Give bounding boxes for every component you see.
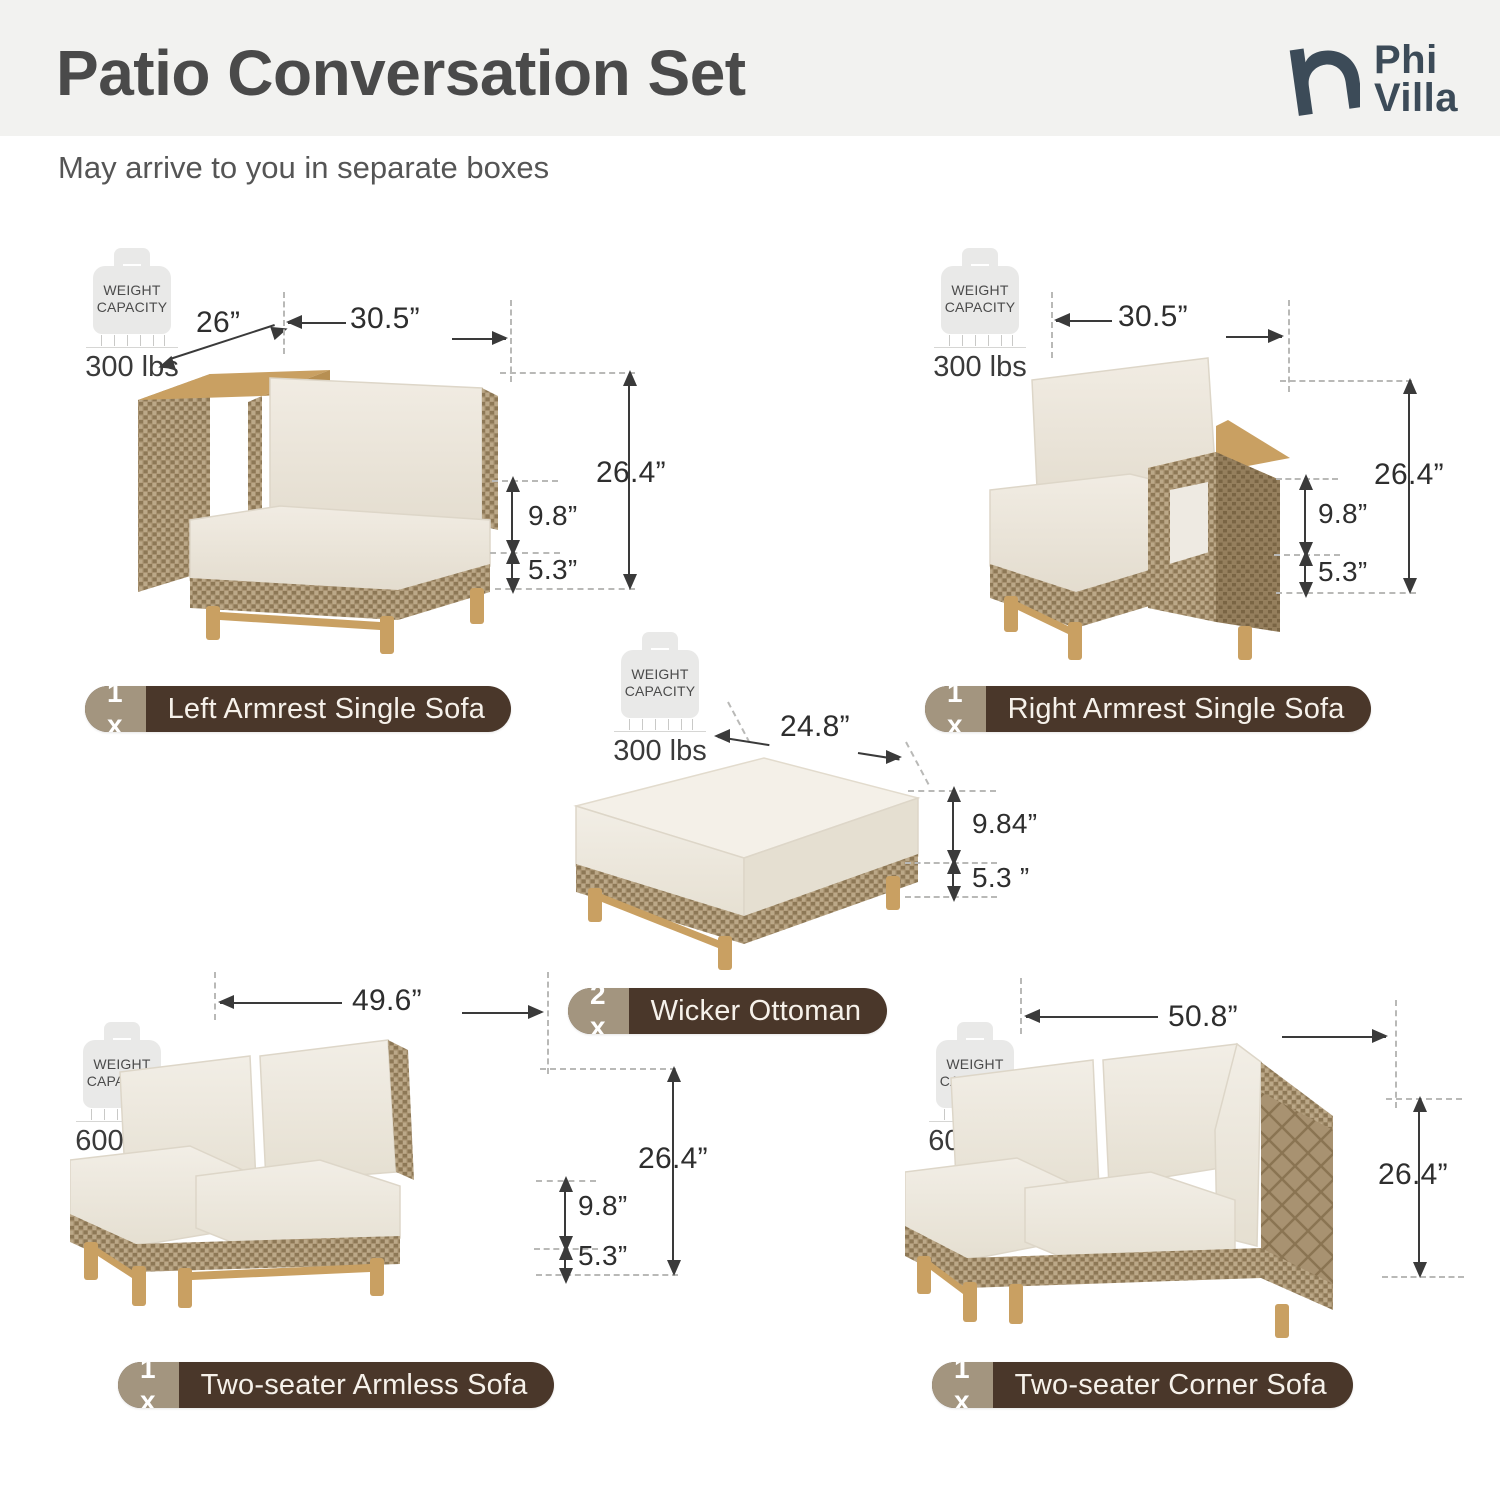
dim-total-height-label: 26.4” xyxy=(638,1142,708,1176)
page-subtitle: May arrive to you in separate boxes xyxy=(58,150,549,186)
product-label-two-seater-corner-sofa[interactable]: 1 x Two-seater Corner Sofa xyxy=(932,1362,1353,1408)
two-seater-corner-sofa-illustration xyxy=(905,1010,1405,1340)
weight-caption-line-2: CAPACITY xyxy=(93,299,171,316)
product-name: Two-seater Armless Sofa xyxy=(179,1362,554,1408)
dim-base-height-label: 5.3” xyxy=(1318,556,1367,588)
dim-seat-height-label: 9.8” xyxy=(1318,498,1367,530)
product-name: Left Armrest Single Sofa xyxy=(146,686,512,732)
dim-width-label: 30.5” xyxy=(350,302,420,336)
dim-total-height-label: 26.4” xyxy=(1378,1158,1448,1192)
product-name: Right Armrest Single Sofa xyxy=(986,686,1371,732)
product-quantity: 1 x xyxy=(932,1362,993,1408)
dim-width-label: 24.8” xyxy=(780,710,850,744)
brand-line-1: Phi xyxy=(1374,41,1458,79)
product-quantity: 1 x xyxy=(925,686,986,732)
page-title: Patio Conversation Set xyxy=(56,36,746,110)
dim-base-height-label: 5.3 ” xyxy=(972,862,1030,894)
brand-wordmark: Phi Villa xyxy=(1374,41,1458,118)
dim-width-label: 50.8” xyxy=(1168,1000,1238,1034)
weight-caption-line-2: CAPACITY xyxy=(621,683,699,700)
dim-base-height-label: 5.3” xyxy=(578,1240,627,1272)
weight-caption-line-1: WEIGHT xyxy=(621,666,699,683)
product-label-right-armrest-single-sofa[interactable]: 1 x Right Armrest Single Sofa xyxy=(925,686,1371,732)
product-label-wicker-ottoman[interactable]: 2 x Wicker Ottoman xyxy=(568,988,887,1034)
product-name: Two-seater Corner Sofa xyxy=(993,1362,1353,1408)
phi-villa-arch-icon xyxy=(1284,38,1360,120)
product-label-left-armrest-single-sofa[interactable]: 1 x Left Armrest Single Sofa xyxy=(85,686,511,732)
product-quantity: 1 x xyxy=(118,1362,179,1408)
dim-cushion-height-label: 9.84” xyxy=(972,808,1037,840)
two-seater-armless-sofa-illustration xyxy=(70,1010,540,1320)
dim-width-label: 49.6” xyxy=(352,984,422,1018)
dim-base-height-label: 5.3” xyxy=(528,554,577,586)
weight-caption-line-1: WEIGHT xyxy=(941,282,1019,299)
left-armrest-sofa-illustration xyxy=(130,330,560,675)
weight-caption-line-1: WEIGHT xyxy=(93,282,171,299)
dim-depth-label: 26” xyxy=(196,306,240,340)
brand-logo: Phi Villa xyxy=(1284,38,1458,120)
weight-icon: WEIGHT CAPACITY xyxy=(93,248,171,334)
dim-total-height-label: 26.4” xyxy=(596,456,666,490)
product-label-two-seater-armless-sofa[interactable]: 1 x Two-seater Armless Sofa xyxy=(118,1362,554,1408)
dim-seat-height-label: 9.8” xyxy=(578,1190,627,1222)
product-quantity: 2 x xyxy=(568,988,629,1034)
dim-total-height-label: 26.4” xyxy=(1374,458,1444,492)
product-quantity: 1 x xyxy=(85,686,146,732)
dim-seat-height-label: 9.8” xyxy=(528,500,577,532)
weight-caption-line-2: CAPACITY xyxy=(941,299,1019,316)
weight-tick-marks xyxy=(621,719,699,731)
weight-icon: WEIGHT CAPACITY xyxy=(941,248,1019,334)
wicker-ottoman-illustration xyxy=(568,740,928,970)
product-name: Wicker Ottoman xyxy=(629,988,888,1034)
brand-line-2: Villa xyxy=(1374,79,1458,117)
weight-icon: WEIGHT CAPACITY xyxy=(621,632,699,718)
dim-width-label: 30.5” xyxy=(1118,300,1188,334)
